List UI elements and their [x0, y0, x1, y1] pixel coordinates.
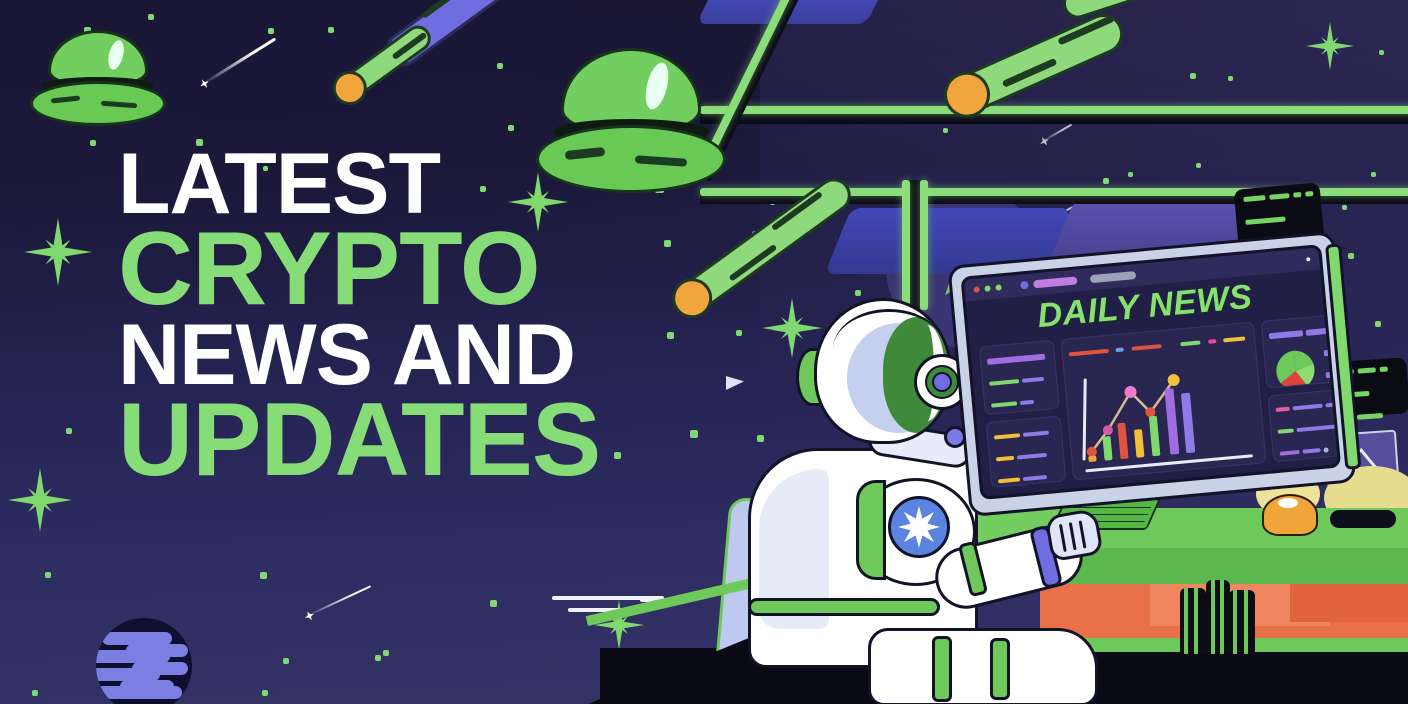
browser-dot-red[interactable]	[973, 286, 980, 293]
star-dot	[262, 690, 268, 696]
panel-text-block-bottom-left[interactable]	[986, 415, 1067, 488]
ufo-saucer	[30, 81, 166, 126]
terminal-row	[1243, 191, 1312, 215]
browser-tab-indicator[interactable]	[1020, 281, 1029, 290]
desk-slot	[1330, 510, 1396, 528]
frame-beam-horizontal	[700, 106, 1408, 114]
astronaut-leg-stripe	[932, 636, 952, 702]
combined-chart-area	[1070, 353, 1259, 473]
astronaut-legs	[868, 628, 1098, 704]
dashboard-left-column	[979, 340, 1067, 488]
star-dot	[90, 140, 96, 146]
dashboard-panels	[979, 316, 1328, 488]
star-dot	[45, 572, 51, 578]
star-dot	[268, 28, 274, 34]
panel-charts[interactable]	[1060, 322, 1266, 481]
astronaut-badge	[888, 496, 950, 558]
panel-text-block-top-left[interactable]	[979, 340, 1060, 415]
star-dot	[1375, 321, 1381, 327]
monitor-screen[interactable]: DAILY NEWS	[960, 244, 1341, 500]
bar	[1088, 455, 1097, 462]
star-dot	[497, 63, 503, 69]
star-dot	[328, 27, 334, 33]
astronaut-torso-stripe	[748, 598, 940, 616]
cylinder-tank	[1229, 590, 1255, 654]
star-dot	[490, 600, 497, 607]
poster-canvas: DAILY NEWS	[0, 0, 1408, 704]
star-dot	[375, 655, 381, 661]
star-dot	[508, 125, 514, 131]
orange-object-highlight	[1278, 498, 1298, 508]
sparkle-star-icon	[24, 218, 92, 286]
dashboard-center-column	[1060, 322, 1266, 481]
astronaut-leg-stripe	[990, 638, 1010, 700]
helmet-band	[833, 309, 945, 349]
star-dot	[66, 428, 72, 434]
frame-beam-vertical	[902, 180, 910, 310]
browser-address-bar[interactable]	[1090, 271, 1137, 283]
frame-beam-vertical	[920, 180, 928, 310]
cylinder-tank	[1206, 580, 1230, 654]
browser-dot-green[interactable]	[984, 285, 991, 292]
panel-text-block-bottom-right[interactable]	[1268, 386, 1342, 462]
star-dot	[148, 14, 154, 20]
orange-object	[1262, 494, 1318, 536]
sparkle-star-icon	[8, 468, 72, 532]
headline-line-4: UPDATES	[118, 394, 678, 488]
star-dot	[32, 690, 38, 696]
headline-line-2: CRYPTO	[118, 223, 678, 317]
ufo-small	[30, 30, 166, 128]
star-badge-icon	[898, 506, 940, 548]
distribution-pie-chart	[1271, 345, 1322, 388]
star-dot	[283, 658, 289, 664]
browser-tab[interactable]	[1033, 276, 1078, 288]
astronaut-shoulder-stripe	[856, 480, 886, 580]
star-dot	[383, 650, 389, 656]
browser-dot-green[interactable]	[995, 284, 1002, 291]
planet-striped	[96, 618, 192, 704]
poster-headline: LATEST CRYPTO NEWS AND UPDATES	[118, 146, 678, 488]
computer-monitor[interactable]: DAILY NEWS	[947, 231, 1356, 517]
star-dot	[690, 430, 698, 438]
cylinder-tank	[1180, 588, 1206, 654]
browser-menu-icon[interactable]	[1306, 257, 1310, 261]
star-dot	[260, 572, 267, 579]
